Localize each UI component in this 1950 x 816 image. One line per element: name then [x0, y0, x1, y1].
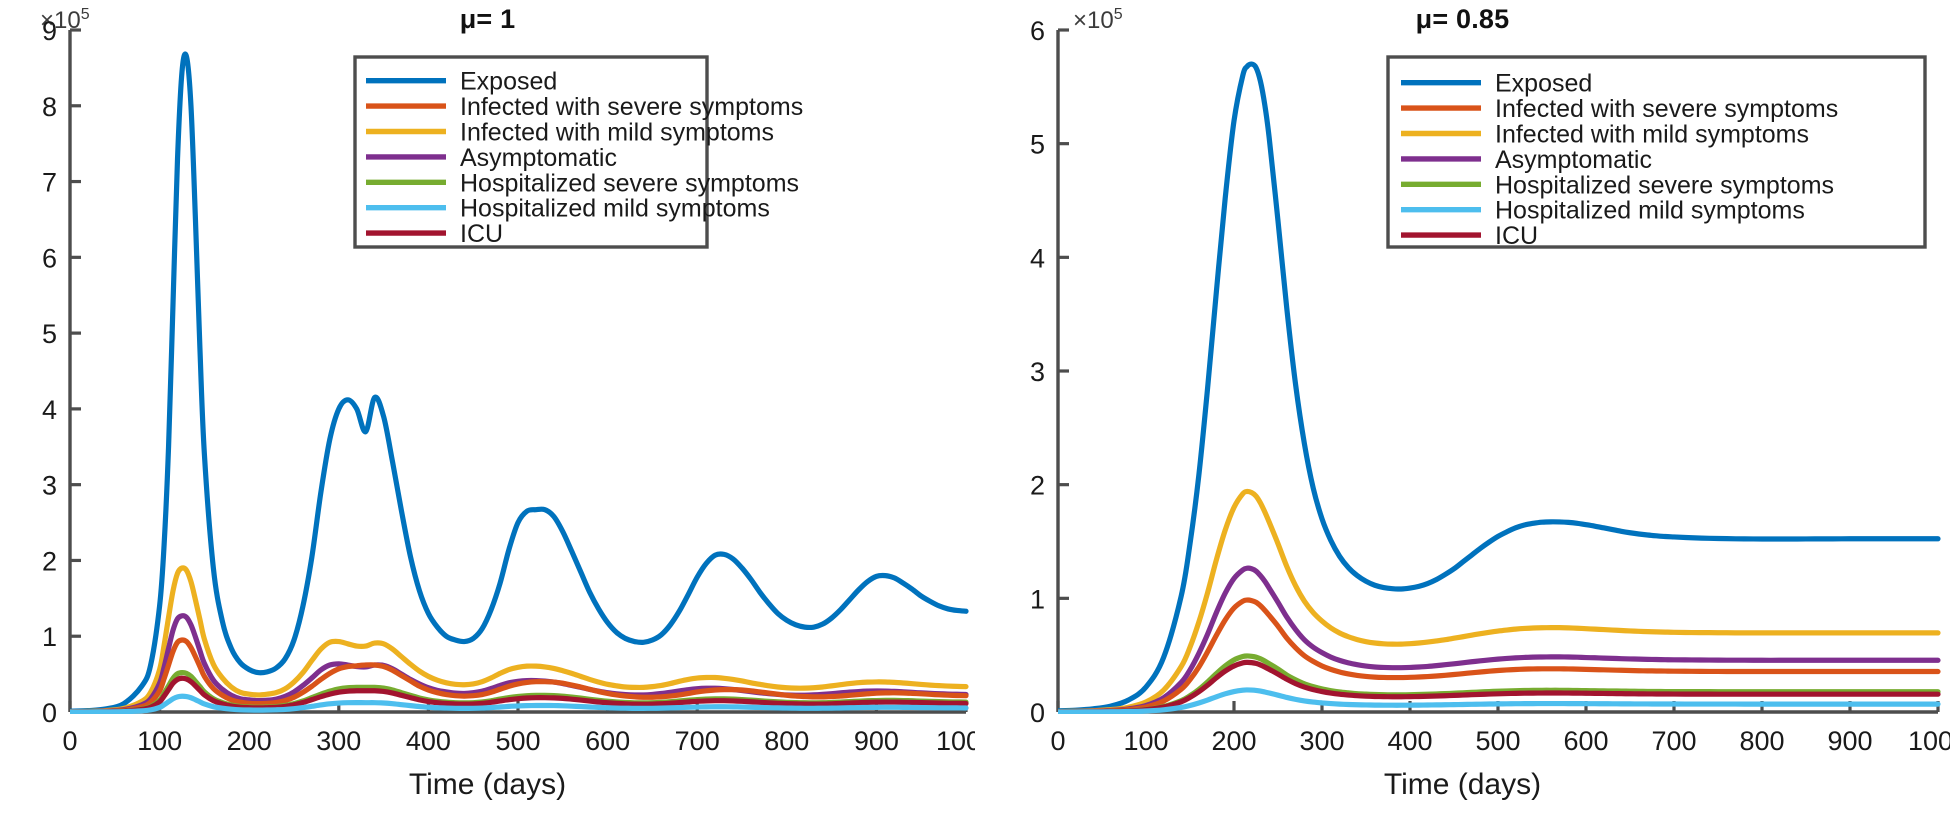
x-tick-label: 0	[1050, 726, 1065, 756]
legend-label-hosp_severe: Hospitalized severe symptoms	[1495, 171, 1834, 199]
legend: ExposedInfected with severe symptomsInfe…	[1388, 57, 1925, 250]
plot-area-left: 0123456789010020030040050060070080090010…	[0, 0, 975, 816]
x-tick-label: 600	[1563, 726, 1608, 756]
y-tick-label: 6	[42, 243, 57, 273]
legend-label-icu: ICU	[460, 220, 503, 248]
plot-area-right: 012345601002003004005006007008009001000E…	[975, 0, 1950, 816]
y-tick-label: 3	[42, 471, 57, 501]
y-tick-label: 0	[1030, 698, 1045, 728]
legend-label-hosp_severe: Hospitalized severe symptoms	[460, 169, 799, 197]
y-tick-label: 4	[42, 395, 57, 425]
y-tick-label: 4	[1030, 243, 1045, 273]
y-tick-label: 9	[42, 16, 57, 46]
x-tick-label: 400	[406, 726, 451, 756]
x-tick-label: 700	[1651, 726, 1696, 756]
figure-root: μ= 1 ×105 012345678901002003004005006007…	[0, 0, 1950, 816]
legend-label-asymptomatic: Asymptomatic	[1495, 146, 1652, 174]
x-tick-label: 500	[1475, 726, 1520, 756]
x-tick-label: 800	[764, 726, 809, 756]
x-axis-label-left: Time (days)	[0, 768, 975, 802]
legend-label-inf_severe: Infected with severe symptoms	[1495, 95, 1838, 123]
y-tick-label: 2	[1030, 471, 1045, 501]
legend-label-inf_mild: Infected with mild symptoms	[460, 119, 774, 147]
panel-mu-085: μ= 0.85 ×105 012345601002003004005006007…	[975, 0, 1950, 816]
y-tick-label: 8	[42, 92, 57, 122]
legend-label-inf_severe: Infected with severe symptoms	[460, 93, 803, 121]
y-tick-label: 7	[42, 168, 57, 198]
x-tick-label: 0	[62, 726, 77, 756]
legend-label-hosp_mild: Hospitalized mild symptoms	[460, 195, 770, 223]
x-tick-label: 100	[137, 726, 182, 756]
y-tick-label: 6	[1030, 16, 1045, 46]
y-tick-label: 1	[42, 622, 57, 652]
x-tick-label: 200	[227, 726, 272, 756]
x-tick-label: 600	[585, 726, 630, 756]
y-tick-label: 3	[1030, 357, 1045, 387]
y-tick-label: 5	[42, 319, 57, 349]
x-tick-label: 1000	[1908, 726, 1950, 756]
y-tick-label: 1	[1030, 584, 1045, 614]
panel-mu-1: μ= 1 ×105 012345678901002003004005006007…	[0, 0, 975, 816]
x-axis-label-right: Time (days)	[975, 768, 1950, 802]
y-tick-label: 0	[42, 698, 57, 728]
legend-label-exposed: Exposed	[1495, 70, 1592, 98]
x-tick-label: 700	[675, 726, 720, 756]
legend-label-asymptomatic: Asymptomatic	[460, 144, 617, 172]
y-tick-label: 5	[1030, 130, 1045, 160]
legend-label-inf_mild: Infected with mild symptoms	[1495, 121, 1809, 149]
x-tick-label: 400	[1387, 726, 1432, 756]
legend-label-hosp_mild: Hospitalized mild symptoms	[1495, 197, 1805, 225]
x-tick-label: 200	[1211, 726, 1256, 756]
x-tick-label: 900	[854, 726, 899, 756]
x-tick-label: 300	[1299, 726, 1344, 756]
legend-label-icu: ICU	[1495, 222, 1538, 250]
x-tick-label: 1000	[936, 726, 975, 756]
x-tick-label: 100	[1123, 726, 1168, 756]
x-tick-label: 800	[1739, 726, 1784, 756]
legend-label-exposed: Exposed	[460, 68, 557, 96]
legend: ExposedInfected with severe symptomsInfe…	[355, 57, 803, 248]
x-tick-label: 900	[1827, 726, 1872, 756]
x-tick-label: 300	[316, 726, 361, 756]
y-tick-label: 2	[42, 546, 57, 576]
x-tick-label: 500	[495, 726, 540, 756]
